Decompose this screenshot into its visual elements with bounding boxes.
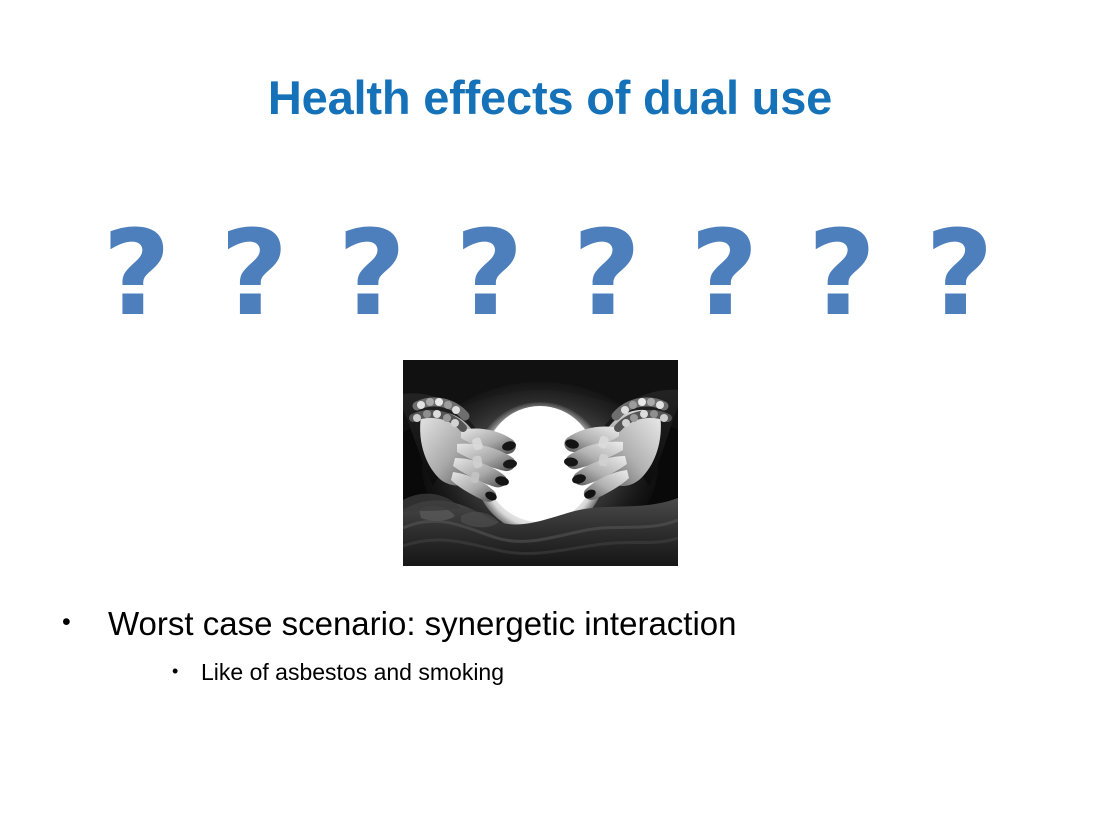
slide-canvas: Health effects of dual use ? ? ? ? ? ? ?… (0, 0, 1100, 825)
question-marks-row: ? ? ? ? ? ? ? ? (0, 214, 1100, 332)
slide-title: Health effects of dual use (0, 72, 1100, 124)
bullet-marker: • (62, 603, 108, 642)
bullet-level2: • Like of asbestos and smoking (172, 658, 504, 687)
bullet-level2-text: Like of asbestos and smoking (201, 658, 504, 687)
bullet-level1: • Worst case scenario: synergetic intera… (62, 603, 737, 644)
bullet-level1-text: Worst case scenario: synergetic interact… (108, 603, 737, 644)
crystal-ball-photo-graphic (403, 360, 678, 566)
sub-bullet-marker: • (172, 658, 201, 685)
crystal-ball-photo (403, 360, 678, 566)
